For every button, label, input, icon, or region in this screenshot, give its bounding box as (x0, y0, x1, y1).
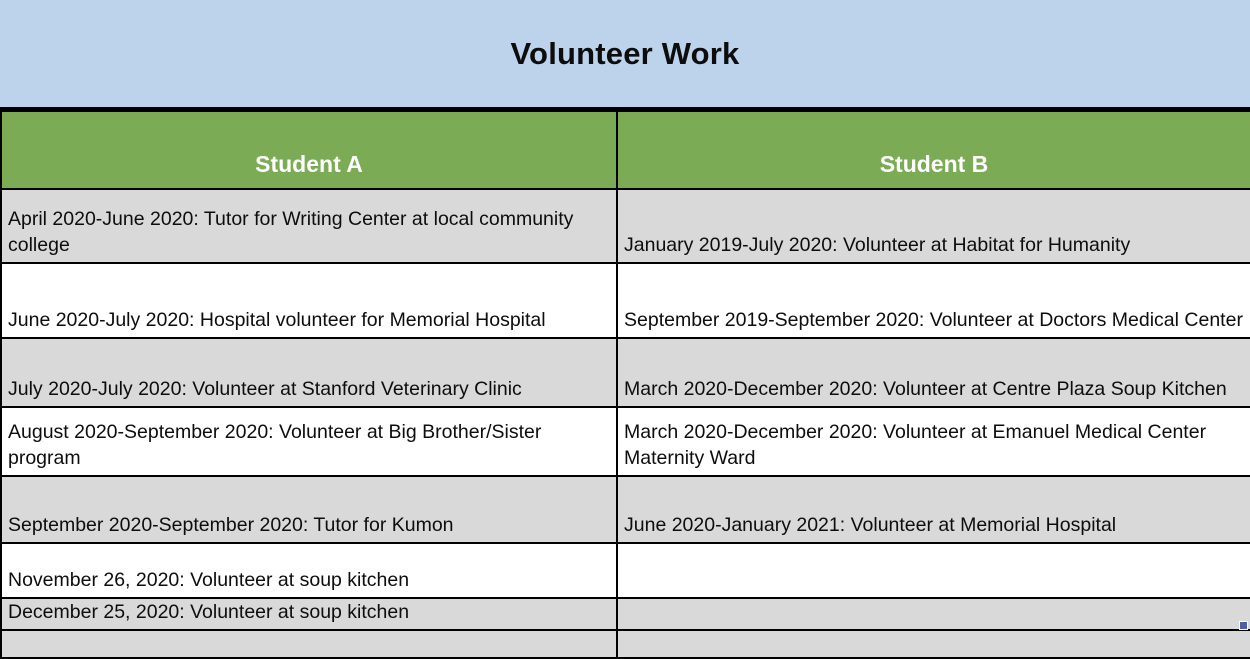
cell-student-a: April 2020-June 2020: Tutor for Writing … (1, 189, 617, 263)
cell-student-b (617, 598, 1250, 630)
cell-student-b (617, 543, 1250, 598)
cell-student-a: December 25, 2020: Volunteer at soup kit… (1, 598, 617, 630)
selection-resize-handle[interactable] (1239, 621, 1248, 630)
cell-student-a (1, 630, 617, 658)
table-row: April 2020-June 2020: Tutor for Writing … (1, 189, 1250, 263)
table-row: December 25, 2020: Volunteer at soup kit… (1, 598, 1250, 630)
cell-student-b: March 2020-December 2020: Volunteer at C… (617, 338, 1250, 407)
column-header-student-a: Student A (1, 111, 617, 189)
table-header-row: Student A Student B (1, 111, 1250, 189)
volunteer-work-table: Student A Student B April 2020-June 2020… (0, 110, 1250, 659)
page-title: Volunteer Work (510, 38, 739, 69)
cell-student-a: September 2020-September 2020: Tutor for… (1, 476, 617, 543)
cell-student-b: September 2019-September 2020: Volunteer… (617, 263, 1250, 338)
table-row: June 2020-July 2020: Hospital volunteer … (1, 263, 1250, 338)
table-row (1, 630, 1250, 658)
table-row: July 2020-July 2020: Volunteer at Stanfo… (1, 338, 1250, 407)
cell-student-a: July 2020-July 2020: Volunteer at Stanfo… (1, 338, 617, 407)
table-row: November 26, 2020: Volunteer at soup kit… (1, 543, 1250, 598)
document-title-banner: Volunteer Work (0, 0, 1250, 110)
column-header-student-b: Student B (617, 111, 1250, 189)
volunteer-work-table-document: Volunteer Work Student A Student B April… (0, 0, 1250, 636)
cell-student-a: August 2020-September 2020: Volunteer at… (1, 407, 617, 476)
table-row: September 2020-September 2020: Tutor for… (1, 476, 1250, 543)
cell-student-b: March 2020-December 2020: Volunteer at E… (617, 407, 1250, 476)
cell-student-b: January 2019-July 2020: Volunteer at Hab… (617, 189, 1250, 263)
cell-student-b: June 2020-January 2021: Volunteer at Mem… (617, 476, 1250, 543)
cell-student-b (617, 630, 1250, 658)
table-row: August 2020-September 2020: Volunteer at… (1, 407, 1250, 476)
cell-student-a: November 26, 2020: Volunteer at soup kit… (1, 543, 617, 598)
cell-student-a: June 2020-July 2020: Hospital volunteer … (1, 263, 617, 338)
